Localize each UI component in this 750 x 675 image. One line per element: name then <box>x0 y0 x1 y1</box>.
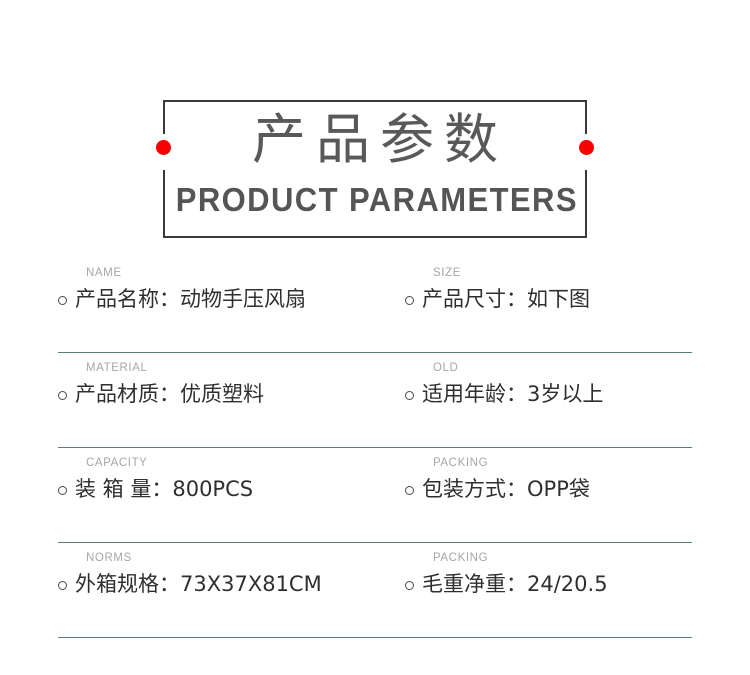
red-dot-right-icon <box>579 140 594 155</box>
banner-right-bottom-tick <box>585 170 587 238</box>
spec-item-material: MATERIAL 产品材质：优质塑料 <box>58 353 403 409</box>
ring-bullet-icon <box>58 486 67 495</box>
spec-table: NAME 产品名称：动物手压风扇 SIZE 产品尺寸：如下图 MATERIAL … <box>58 258 692 638</box>
spec-item-carton-size: NORMS 外箱规格：73X37X81CM <box>58 543 403 599</box>
spec-value: 毛重净重：24/20.5 <box>422 569 608 599</box>
spec-label: MATERIAL <box>86 353 403 375</box>
spec-label: PACKING <box>433 543 692 565</box>
ring-bullet-icon <box>405 581 414 590</box>
spec-item-capacity: CAPACITY 装 箱 量：800PCS <box>58 448 403 504</box>
spec-row: NAME 产品名称：动物手压风扇 SIZE 产品尺寸：如下图 <box>58 258 692 353</box>
spec-value: 外箱规格：73X37X81CM <box>75 569 322 599</box>
ring-bullet-icon <box>405 296 414 305</box>
spec-label: SIZE <box>433 258 692 280</box>
spec-label: PACKING <box>433 448 692 470</box>
spec-row: CAPACITY 装 箱 量：800PCS PACKING 包装方式：OPP袋 <box>58 448 692 543</box>
page-title-cn: 产品参数 <box>163 108 587 172</box>
spec-label: NORMS <box>86 543 403 565</box>
spec-value: 适用年龄：3岁以上 <box>422 379 603 409</box>
spec-item-size: SIZE 产品尺寸：如下图 <box>405 258 692 314</box>
page-title-en: PRODUCT PARAMETERS <box>176 180 575 220</box>
spec-value: 产品材质：优质塑料 <box>75 379 264 409</box>
spec-item-name: NAME 产品名称：动物手压风扇 <box>58 258 403 314</box>
spec-value: 装 箱 量：800PCS <box>75 474 253 504</box>
spec-item-packing-type: PACKING 包装方式：OPP袋 <box>405 448 692 504</box>
banner-bottom-rule <box>163 236 587 238</box>
title-banner: 产品参数 PRODUCT PARAMETERS <box>163 100 587 238</box>
ring-bullet-icon <box>405 391 414 400</box>
spec-value: 产品尺寸：如下图 <box>422 284 590 314</box>
red-dot-left-icon <box>156 140 171 155</box>
page-header: 产品参数 PRODUCT PARAMETERS <box>0 0 750 250</box>
spec-label: OLD <box>433 353 692 375</box>
spec-row: NORMS 外箱规格：73X37X81CM PACKING 毛重净重：24/20… <box>58 543 692 638</box>
ring-bullet-icon <box>58 581 67 590</box>
spec-item-age: OLD 适用年龄：3岁以上 <box>405 353 692 409</box>
spec-label: CAPACITY <box>86 448 403 470</box>
banner-top-rule <box>163 100 587 102</box>
spec-value: 包装方式：OPP袋 <box>422 474 590 504</box>
spec-item-weight: PACKING 毛重净重：24/20.5 <box>405 543 692 599</box>
row-divider <box>58 637 692 638</box>
ring-bullet-icon <box>58 391 67 400</box>
spec-value: 产品名称：动物手压风扇 <box>75 284 306 314</box>
banner-left-bottom-tick <box>163 170 165 238</box>
spec-row: MATERIAL 产品材质：优质塑料 OLD 适用年龄：3岁以上 <box>58 353 692 448</box>
spec-label: NAME <box>86 258 403 280</box>
ring-bullet-icon <box>405 486 414 495</box>
ring-bullet-icon <box>58 296 67 305</box>
